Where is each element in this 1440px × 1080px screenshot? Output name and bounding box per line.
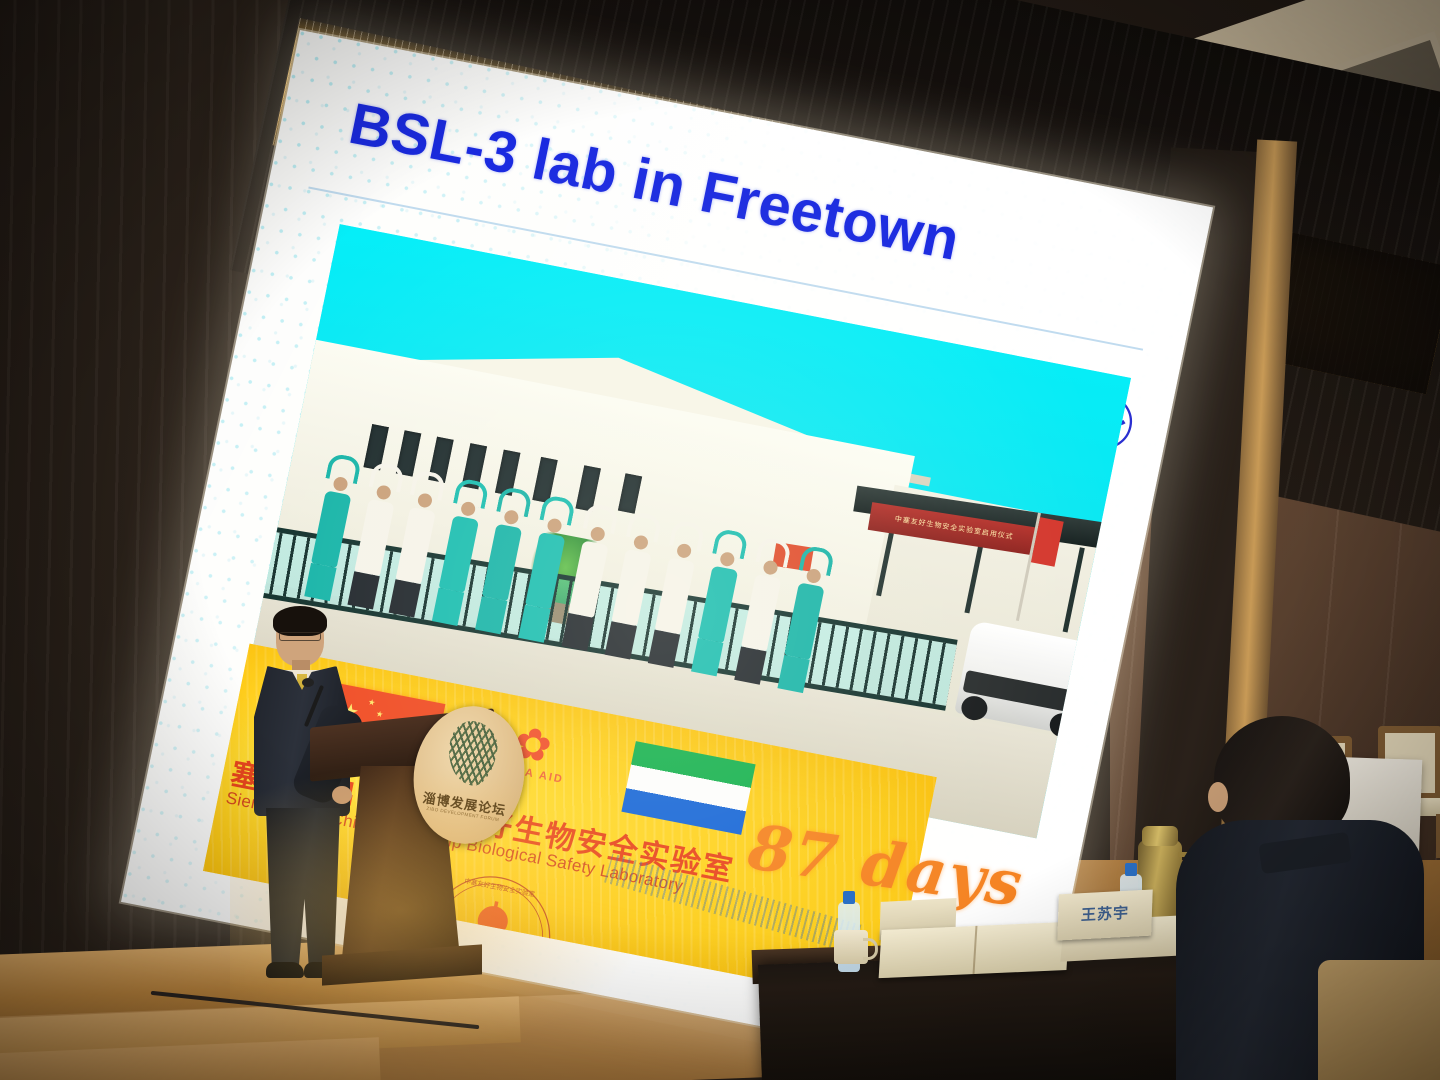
- presenter-shoe: [266, 962, 304, 978]
- tea-cup: [834, 930, 868, 964]
- person: [777, 567, 827, 693]
- person: [432, 500, 482, 626]
- open-program-book: [879, 922, 1070, 978]
- thermos-cap: [1142, 826, 1178, 846]
- person: [347, 483, 397, 609]
- nameplate: 王苏宇: [1057, 889, 1152, 940]
- person: [648, 542, 698, 668]
- person: [389, 491, 439, 617]
- foreground-chair: [1318, 960, 1440, 1080]
- person: [518, 516, 568, 642]
- glasses-icon: [279, 632, 321, 641]
- person: [734, 558, 784, 684]
- person: [475, 508, 525, 634]
- flag-sierra-leone-icon: [621, 741, 755, 835]
- person: [605, 533, 655, 659]
- attendee-ear: [1208, 782, 1228, 812]
- podium: 淄博发展论坛 ZIBO DEVELOPMENT FORUM: [318, 718, 486, 986]
- person: [561, 525, 611, 651]
- nameplate-text: 王苏宇: [1057, 889, 1152, 940]
- presentation-scene: BSL-3 lab in Freetown: [0, 0, 1440, 1080]
- person: [691, 550, 741, 676]
- microphone-head-icon: [302, 678, 314, 687]
- pinecone-emblem-icon: [444, 718, 501, 789]
